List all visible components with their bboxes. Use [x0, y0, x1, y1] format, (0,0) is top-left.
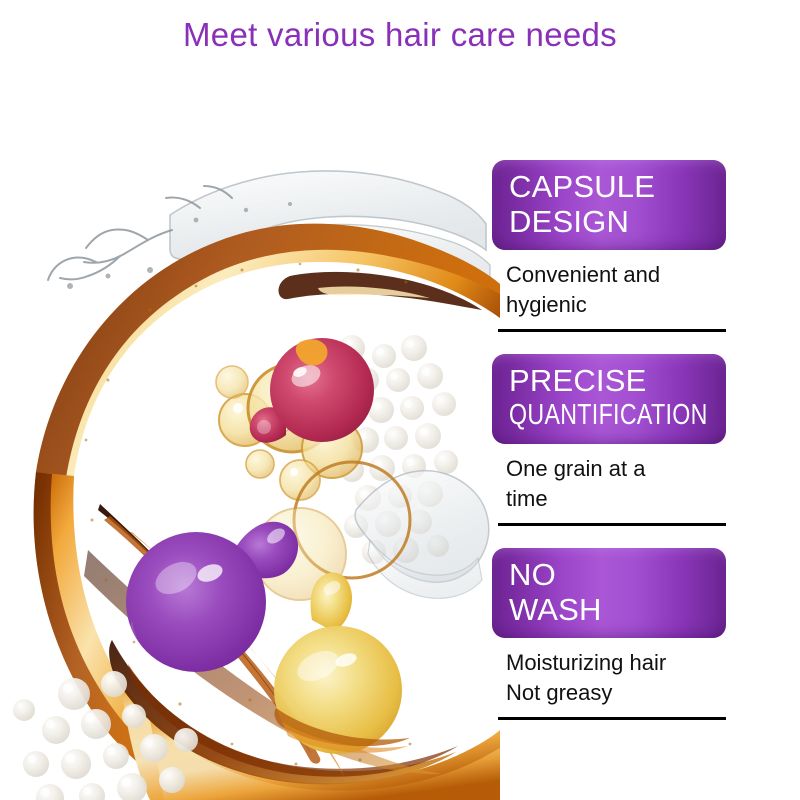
- page-title: Meet various hair care needs: [0, 16, 800, 54]
- feature-description-precise-quantification: One grain at a time: [506, 454, 732, 514]
- description-line-1: One grain at a: [506, 454, 732, 484]
- badge-capsule-design[interactable]: CAPSULE DESIGN: [492, 160, 726, 250]
- feature-precise-quantification: PRECISE QUANTIFICATION One grain at a ti…: [492, 354, 732, 526]
- oil-splash-illustration: [0, 80, 500, 800]
- badge-line-2: WASH: [509, 592, 726, 627]
- product-feature-poster: Meet various hair care needs: [0, 0, 800, 800]
- badge-line-1: NO: [509, 557, 726, 592]
- feature-description-no-wash: Moisturizing hair Not greasy: [506, 648, 732, 708]
- description-line-1: Moisturizing hair: [506, 648, 732, 678]
- feature-capsule-design: CAPSULE DESIGN Convenient and hygienic: [492, 160, 732, 332]
- description-line-2: hygienic: [506, 290, 732, 320]
- badge-line-2: DESIGN: [509, 204, 726, 239]
- description-line-1: Convenient and: [506, 260, 732, 290]
- badge-line-1: PRECISE: [509, 363, 726, 398]
- feature-no-wash: NO WASH Moisturizing hair Not greasy: [492, 548, 732, 720]
- spacer: [492, 526, 732, 548]
- feature-description-capsule-design: Convenient and hygienic: [506, 260, 732, 320]
- feature-list: CAPSULE DESIGN Convenient and hygienic P…: [492, 160, 732, 720]
- feature-divider: [498, 523, 726, 526]
- hero-artwork: [0, 80, 500, 800]
- description-line-2: Not greasy: [506, 678, 732, 708]
- feature-divider: [498, 717, 726, 720]
- purple-capsule: [126, 522, 298, 685]
- spacer: [492, 332, 732, 354]
- badge-line-2: QUANTIFICATION: [509, 398, 683, 433]
- badge-precise-quantification[interactable]: PRECISE QUANTIFICATION: [492, 354, 726, 444]
- description-line-2: time: [506, 484, 732, 514]
- badge-no-wash[interactable]: NO WASH: [492, 548, 726, 638]
- badge-line-1: CAPSULE: [509, 169, 726, 204]
- feature-divider: [498, 329, 726, 332]
